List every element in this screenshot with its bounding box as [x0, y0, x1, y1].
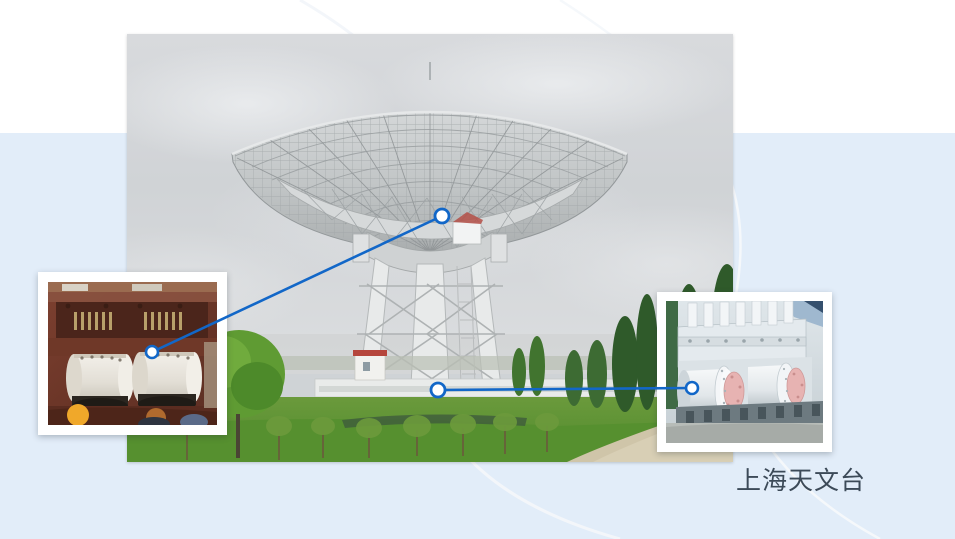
inset-right-new-bearing [657, 292, 832, 452]
slide-canvas: 上海天文台 [0, 0, 955, 539]
inset-left-old-bearing [38, 272, 227, 435]
inset-left-image [48, 282, 217, 425]
caption-label: 上海天文台 [736, 468, 866, 496]
inset-right-image [666, 301, 823, 443]
